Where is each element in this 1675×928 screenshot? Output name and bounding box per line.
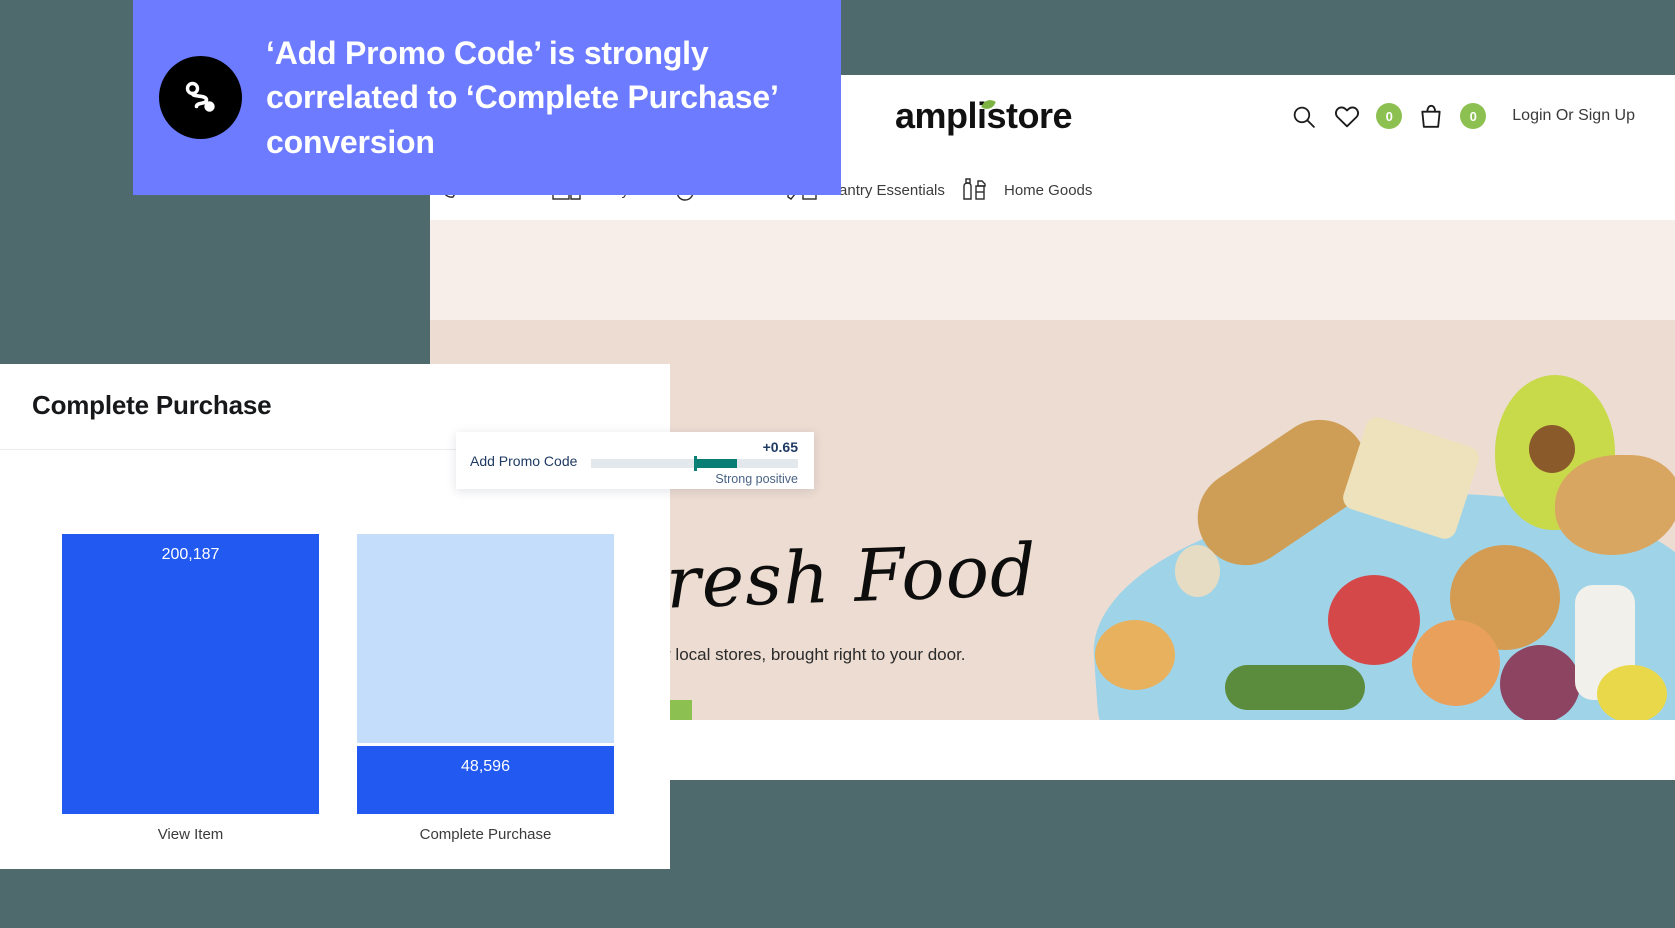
egg-illustration: [1095, 620, 1175, 690]
correlation-event-name[interactable]: Add Promo Code: [470, 453, 577, 469]
home-goods-icon: [960, 175, 994, 205]
croissant-illustration: [1555, 455, 1675, 555]
correlation-bar: [696, 459, 737, 468]
hero-headline: Fresh Food: [614, 528, 1039, 627]
category-home-goods[interactable]: Home Goods: [960, 175, 1092, 205]
funnel-bar-converted-segment: 48,596: [357, 746, 614, 814]
heart-icon[interactable]: [1332, 101, 1362, 131]
herbs-illustration: [1225, 665, 1365, 710]
correlation-zero-tick: [694, 456, 697, 471]
avocado-pit: [1529, 425, 1575, 473]
quail-egg-illustration: [1175, 545, 1220, 597]
category-label: Home Goods: [1004, 182, 1092, 199]
correlation-value: +0.65: [763, 439, 798, 455]
page-title: Complete Purchase: [32, 390, 271, 421]
header-actions: 0 0 Login Or Sign Up: [1288, 101, 1635, 131]
funnel-bar-category-label: Complete Purchase: [357, 826, 614, 843]
shopping-bag-icon[interactable]: [1416, 101, 1446, 131]
funnel-bar-column[interactable]: 48,596Complete Purchase: [357, 534, 614, 814]
amplitude-path-icon: [159, 56, 242, 139]
funnel-bar-dropoff-segment: [357, 534, 614, 743]
funnel-bar-category-label: View Item: [62, 826, 319, 843]
cart-count-badge: 0: [1460, 103, 1486, 129]
tomato-illustration: [1328, 575, 1420, 665]
insight-callout: ‘Add Promo Code’ is strongly correlated …: [133, 0, 841, 195]
funnel-bar-converted-segment: 200,187: [62, 534, 319, 814]
wishlist-count-badge: 0: [1376, 103, 1402, 129]
funnel-bar-value: 48,596: [357, 758, 614, 776]
search-icon[interactable]: [1288, 101, 1318, 131]
login-signup-link[interactable]: Login Or Sign Up: [1512, 107, 1635, 125]
category-label: Pantry Essentials: [829, 182, 945, 199]
correlation-tooltip: Add Promo Code +0.65 Strong positive: [456, 432, 814, 489]
funnel-bar-value: 200,187: [62, 546, 319, 564]
screenshot-root: amplistore 0: [0, 0, 1675, 928]
funnel-bar-column[interactable]: 200,187View Item: [62, 534, 319, 814]
correlation-track: [591, 459, 798, 468]
hero-top-band: [430, 220, 1675, 320]
insight-callout-text: ‘Add Promo Code’ is strongly correlated …: [266, 31, 826, 163]
correlation-meter: +0.65 Strong positive: [591, 432, 798, 489]
peach-illustration: [1412, 620, 1500, 706]
correlation-strength-label: Strong positive: [715, 472, 798, 486]
lemon-illustration: [1597, 665, 1667, 720]
funnel-chart: 200,187View Item48,596Complete Purchase: [0, 484, 670, 874]
beet-illustration: [1500, 645, 1580, 720]
